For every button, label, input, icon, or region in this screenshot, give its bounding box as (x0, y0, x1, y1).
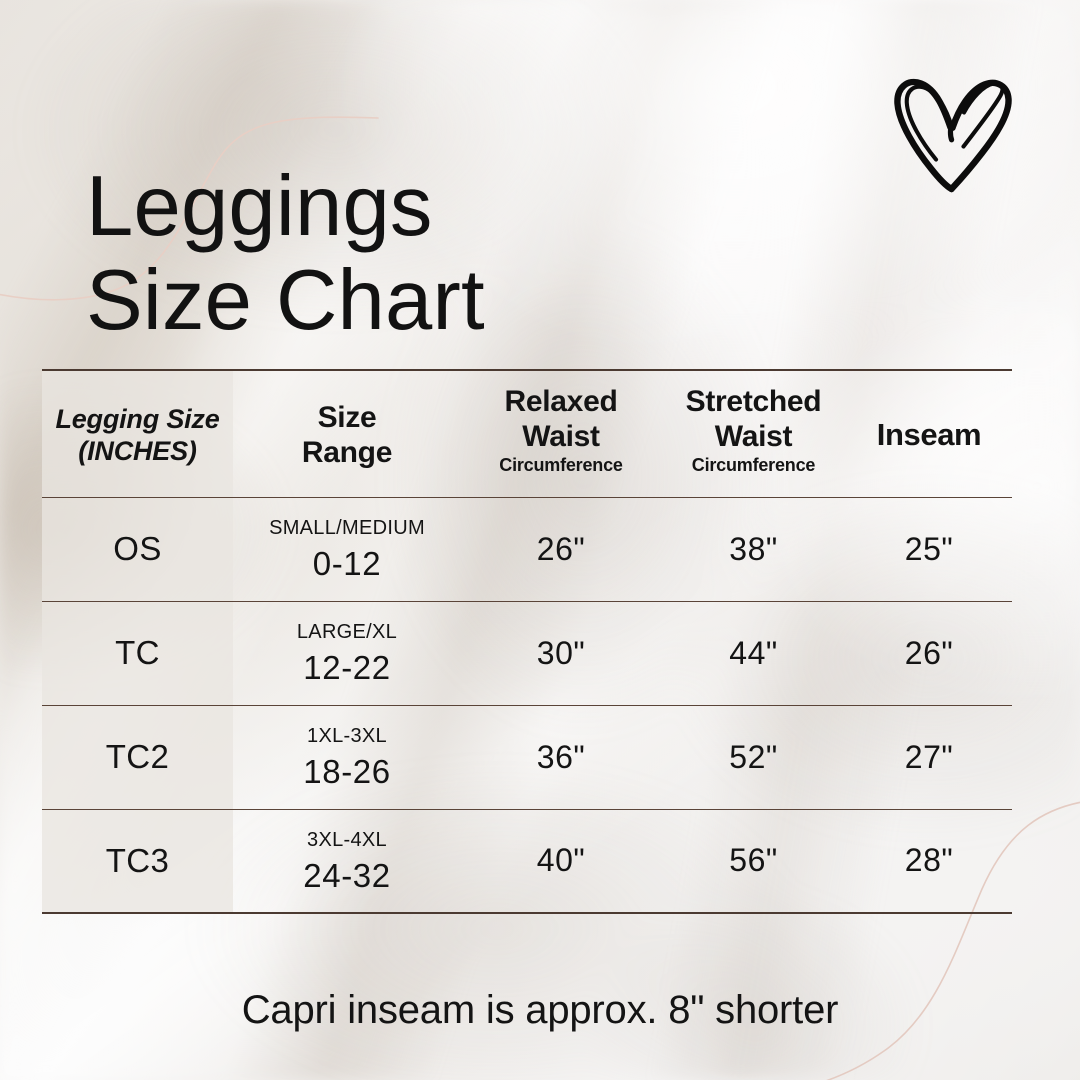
cell-legging-size: TC2 (42, 705, 233, 809)
legging-size-label-line2: (INCHES) (78, 436, 196, 466)
size-range-text: 1XL-3XL (233, 726, 461, 746)
cell-size-range: SMALL/MEDIUM 0-12 (233, 497, 461, 601)
cell-stretched-waist: 44" (661, 601, 846, 705)
cell-legging-size: TC3 (42, 809, 233, 913)
hand-drawn-heart-icon (884, 58, 1024, 198)
cell-legging-size: OS (42, 497, 233, 601)
cell-size-range: LARGE/XL 12-22 (233, 601, 461, 705)
size-range-text: LARGE/XL (233, 622, 461, 642)
column-header-size-range: Size Range (233, 370, 461, 497)
table-row: TC2 1XL-3XL 18-26 36" 52" (42, 705, 1012, 809)
table-header-row: Legging Size (INCHES) Size Range Relaxed… (42, 370, 1012, 497)
page-title: Leggings Size Chart (86, 160, 485, 348)
cell-relaxed-waist: 26" (461, 497, 661, 601)
cell-stretched-waist: 56" (661, 809, 846, 913)
table-row: TC3 3XL-4XL 24-32 40" 56" (42, 809, 1012, 913)
size-range-numbers: 18-26 (233, 755, 461, 788)
stretched-waist-sublabel: Circumference (661, 455, 846, 476)
cell-inseam: 28" (846, 809, 1012, 913)
cell-inseam: 26" (846, 601, 1012, 705)
cell-relaxed-waist: 30" (461, 601, 661, 705)
size-range-text: 3XL-4XL (233, 830, 461, 850)
cell-inseam: 25" (846, 497, 1012, 601)
relaxed-waist-sublabel: Circumference (461, 455, 661, 476)
cell-relaxed-waist: 40" (461, 809, 661, 913)
title-line-1: Leggings (86, 160, 485, 254)
table-row: OS SMALL/MEDIUM 0-12 26" 38" (42, 497, 1012, 601)
stretched-waist-label-line1: Stretched (686, 385, 822, 418)
cell-relaxed-waist: 36" (461, 705, 661, 809)
cell-stretched-waist: 52" (661, 705, 846, 809)
size-chart-table: Legging Size (INCHES) Size Range Relaxed… (42, 369, 1012, 914)
size-range-label-line2: Range (302, 436, 392, 469)
cell-inseam: 27" (846, 705, 1012, 809)
column-header-legging-size: Legging Size (INCHES) (42, 370, 233, 497)
cell-size-range: 3XL-4XL 24-32 (233, 809, 461, 913)
cell-size-range: 1XL-3XL 18-26 (233, 705, 461, 809)
size-range-label-line1: Size (318, 401, 377, 434)
size-range-text: SMALL/MEDIUM (233, 518, 461, 538)
relaxed-waist-label-line2: Waist (522, 420, 599, 453)
column-header-relaxed-waist: Relaxed Waist Circumference (461, 370, 661, 497)
cell-legging-size: TC (42, 601, 233, 705)
legging-size-label-line1: Legging Size (55, 404, 219, 434)
column-header-inseam: Inseam (846, 370, 1012, 497)
cell-stretched-waist: 38" (661, 497, 846, 601)
stretched-waist-label-line2: Waist (715, 420, 792, 453)
table-row: TC LARGE/XL 12-22 30" 44" (42, 601, 1012, 705)
size-range-numbers: 0-12 (233, 547, 461, 580)
column-header-stretched-waist: Stretched Waist Circumference (661, 370, 846, 497)
inseam-label: Inseam (877, 417, 981, 452)
relaxed-waist-label-line1: Relaxed (505, 385, 618, 418)
capri-inseam-note: Capri inseam is approx. 8" shorter (0, 988, 1080, 1033)
size-chart-poster: Leggings Size Chart Legging Size (INCHES… (0, 0, 1080, 1080)
size-range-numbers: 24-32 (233, 859, 461, 892)
size-range-numbers: 12-22 (233, 651, 461, 684)
title-line-2: Size Chart (86, 254, 485, 348)
size-chart-table-wrapper: Legging Size (INCHES) Size Range Relaxed… (42, 369, 1012, 914)
